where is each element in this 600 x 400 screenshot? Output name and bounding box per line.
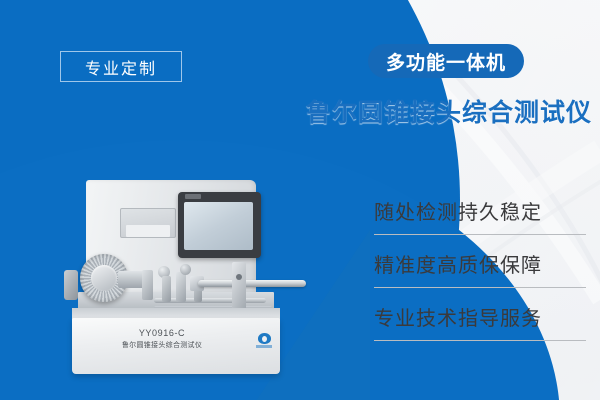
machine-clamp-c [176,272,186,302]
machine-nut-b [180,264,191,275]
brand-wordmark [256,345,272,348]
machine-panel-slot-inner [126,225,170,237]
machine-nameplate: YY0916-C 鲁尔圆锥接头综合测试仪 [72,328,252,350]
brand-mark-icon [258,333,271,344]
machine-clamp-b [162,276,171,302]
feature-item-label: 精准度高质保保障 [374,249,586,278]
machine-clamp-a [142,270,153,300]
machine-push-rod [198,280,306,287]
machine-product-name: 鲁尔圆锥接头综合测试仪 [72,340,252,350]
custom-order-badge: 专业定制 [60,51,182,82]
promo-banner: 专业定制 YY0916-C 鲁尔圆锥接头综合测试仪 [0,0,600,400]
feature-item-label: 随处检测持久稳定 [374,196,586,225]
machine-hmi-screen [184,202,253,250]
machine-hmi-logo [185,194,201,199]
feature-item: 随处检测持久稳定 [374,196,586,235]
product-photo: YY0916-C 鲁尔圆锥接头综合测试仪 [58,180,308,385]
feature-list: 随处检测持久稳定 精准度高质保保障 专业技术指导服务 [374,196,586,341]
machine-wheel-hub [91,265,117,291]
feature-item-label: 专业技术指导服务 [374,302,586,331]
machine-model-number: YY0916-C [72,328,252,338]
feature-item: 精准度高质保保障 [374,249,586,288]
machine-stand-hole [236,274,242,280]
feature-item: 专业技术指导服务 [374,302,586,341]
multifunction-pill-label: 多功能一体机 [386,48,506,75]
page-title: 鲁尔圆锥接头综合测试仪 [306,93,592,129]
brand-logo [254,330,274,350]
multifunction-pill-badge: 多功能一体机 [368,44,524,78]
custom-order-badge-label: 专业定制 [85,55,157,79]
machine-wheel-arm [64,270,78,300]
machine-stand [232,262,246,314]
